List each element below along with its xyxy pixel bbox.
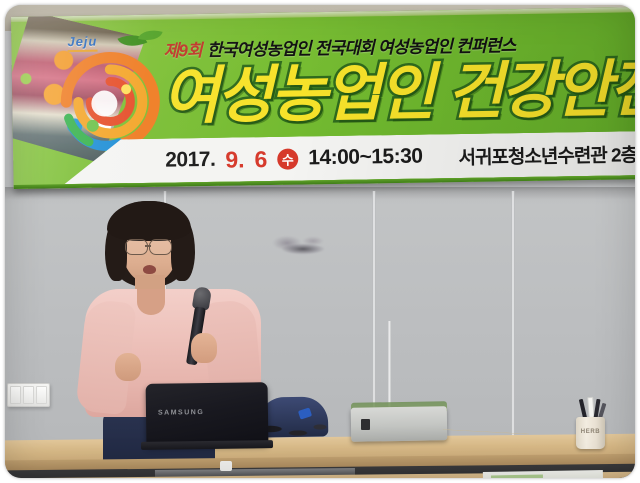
- speaker-description: pink short-sleeve top: [79, 201, 80, 202]
- mouth: [143, 265, 156, 274]
- banner-sheen: [11, 7, 635, 189]
- laptop[interactable]: SAMSUNG: [146, 382, 269, 446]
- eyeglasses-bridge: [145, 245, 151, 247]
- laptop-brand-label: SAMSUNG: [158, 409, 204, 417]
- light-switch[interactable]: [10, 386, 21, 404]
- paper-green-print: [491, 475, 543, 478]
- wall-rod: [388, 321, 391, 407]
- shirt-collar: [137, 289, 165, 315]
- eyeglasses-lens: [125, 239, 148, 255]
- small-object: [220, 461, 232, 471]
- right-hand: [191, 333, 217, 363]
- light-switch-plate[interactable]: light switches: [7, 383, 50, 407]
- pen-holder-label: HERB: [576, 429, 605, 435]
- left-hand: [115, 353, 141, 381]
- wall-stain: [269, 233, 331, 259]
- photo-canvas: light switches Jeju 제9회한국여성농업인 전: [5, 5, 635, 478]
- photo-frame: light switches Jeju 제9회한국여성농업인 전: [0, 0, 640, 483]
- hair-fringe: [107, 201, 191, 241]
- event-banner: Jeju 제9회한국여성농업인 전국대회 여성농업인 컨퍼런스 여성농업인 건강…: [11, 7, 635, 189]
- light-switch[interactable]: [36, 386, 47, 404]
- eyeglasses-lens: [149, 239, 172, 255]
- light-switch[interactable]: [23, 386, 34, 404]
- projector-port: [361, 419, 370, 430]
